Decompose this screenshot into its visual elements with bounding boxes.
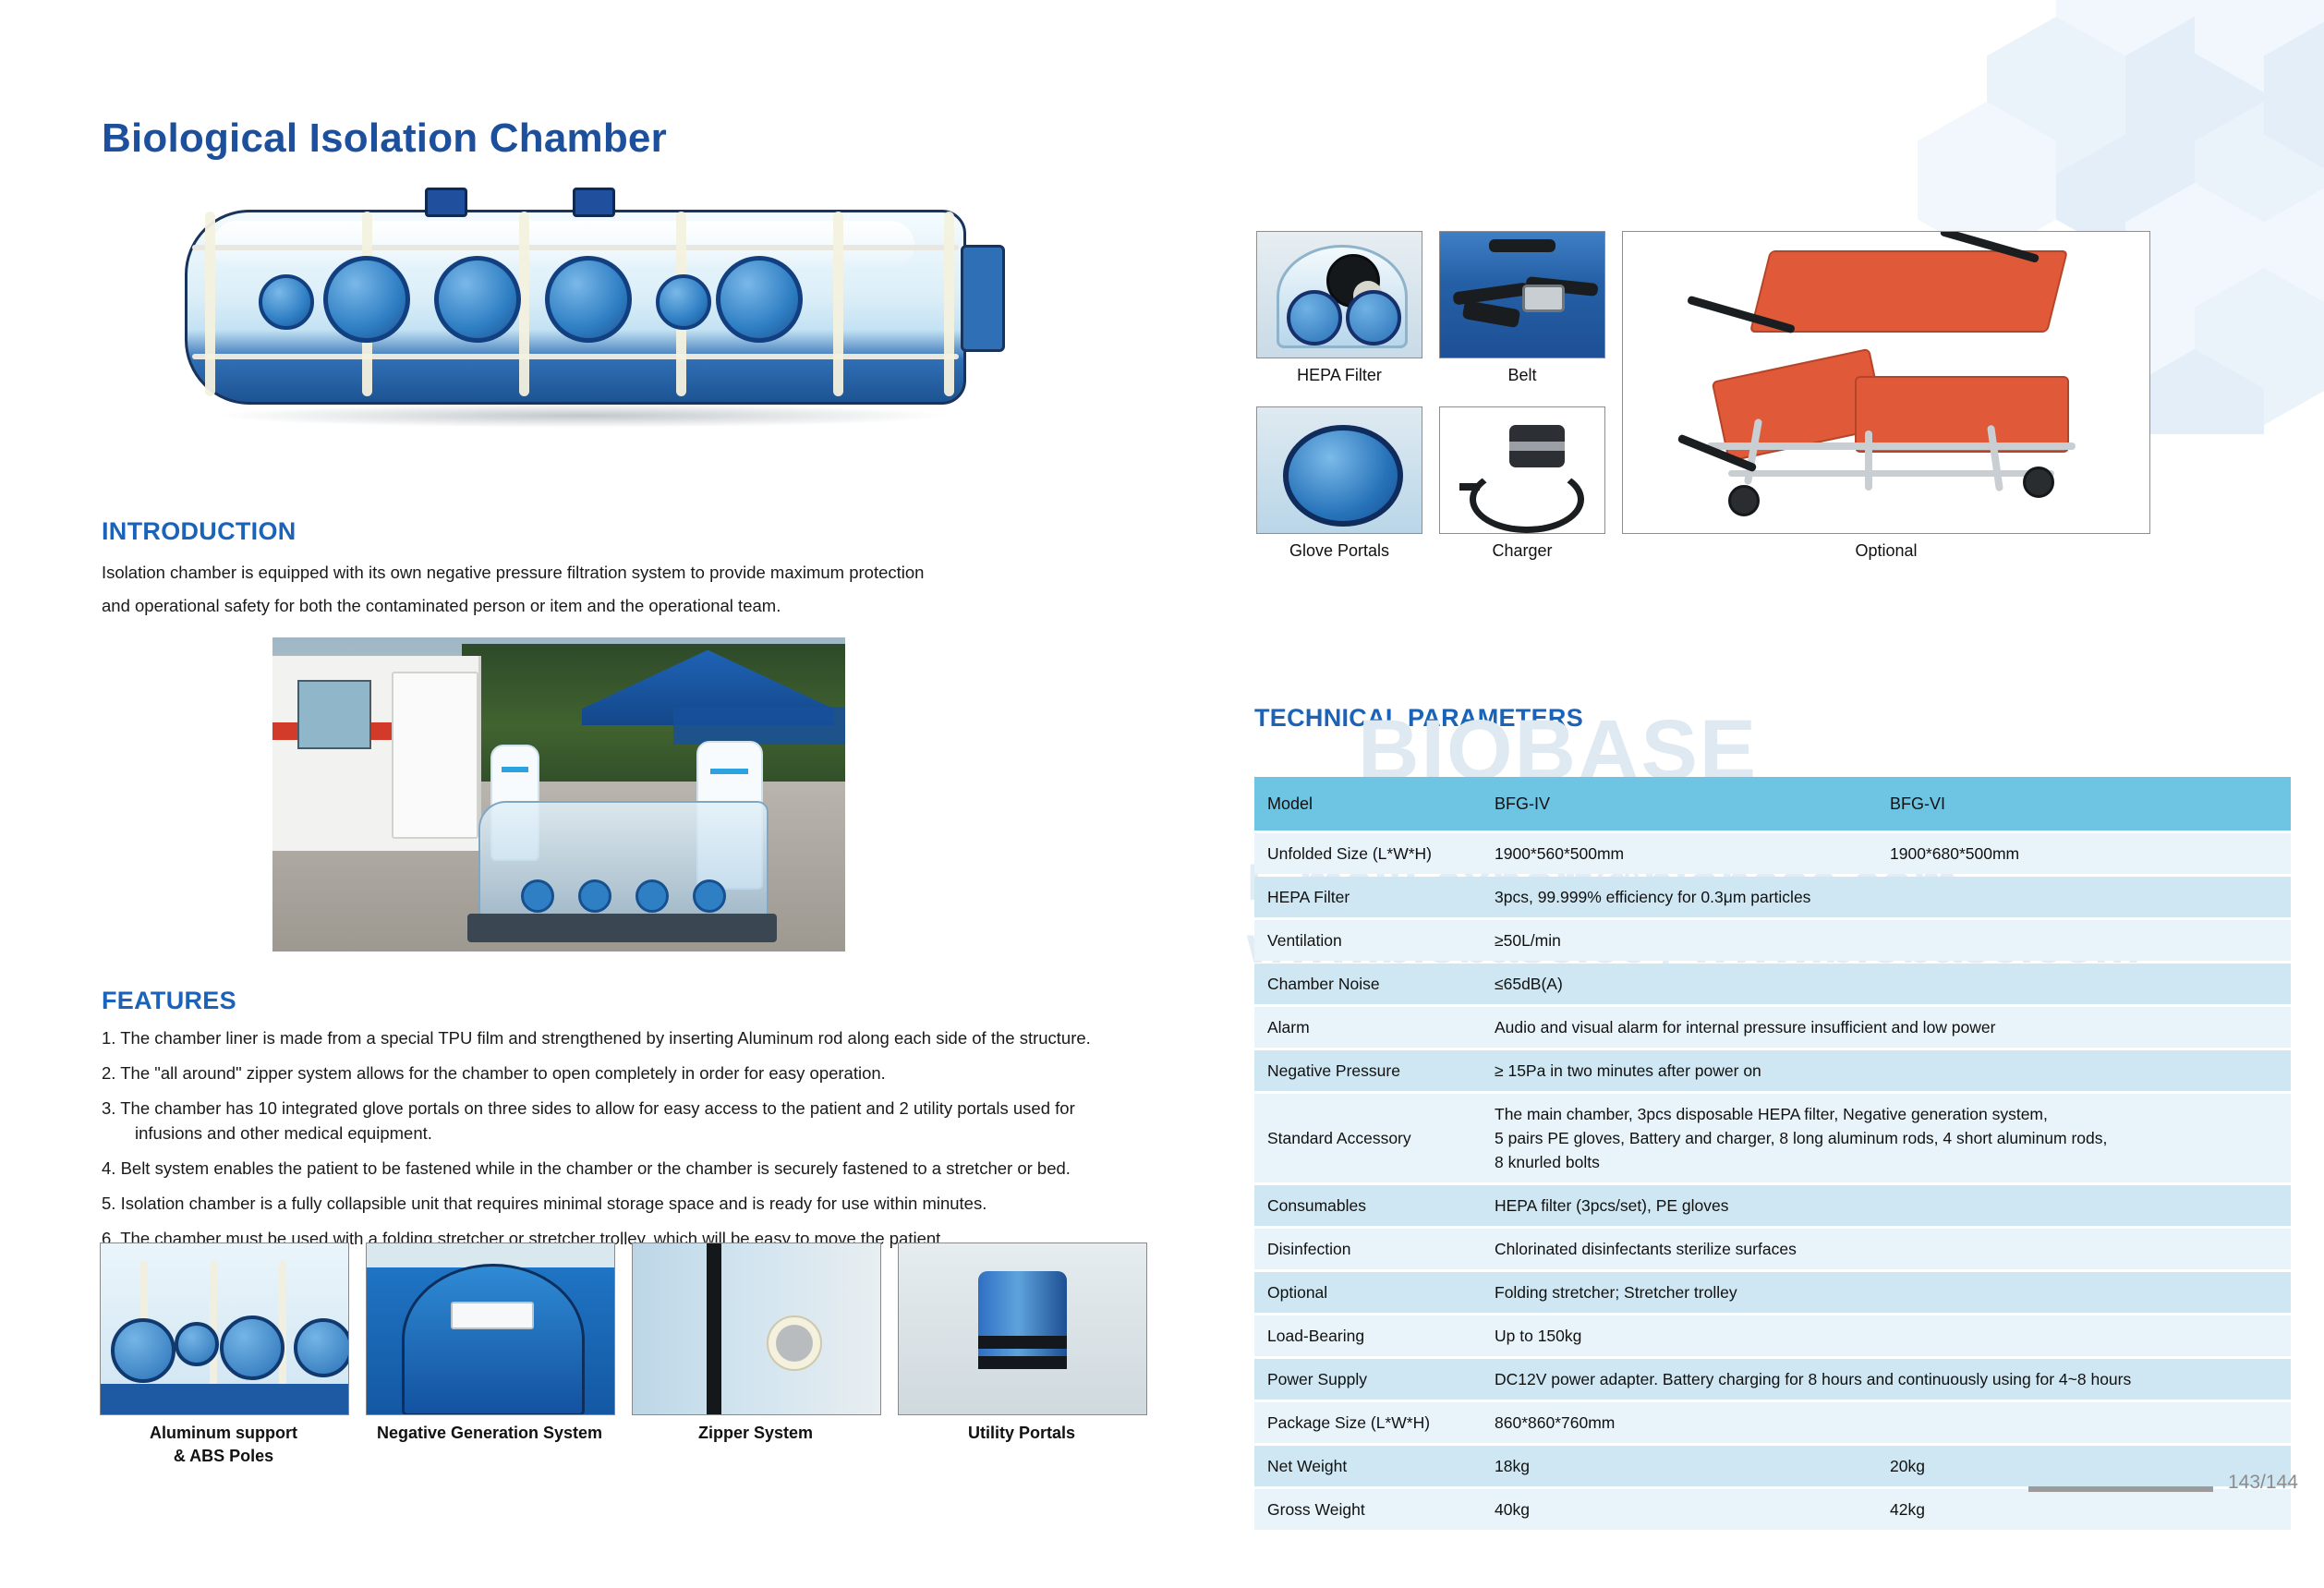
- introduction-body: Isolation chamber is equipped with its o…: [102, 556, 1044, 623]
- accessory-caption: Glove Portals: [1256, 539, 1422, 562]
- row-value: 860*860*760mm: [1482, 1402, 2291, 1443]
- introduction-line-2: and operational safety for both the cont…: [102, 589, 1044, 623]
- accessory-charger: Charger: [1439, 406, 1605, 562]
- accessory-caption: HEPA Filter: [1256, 364, 1422, 386]
- row-key: Unfolded Size (L*W*H): [1254, 833, 1482, 874]
- zipper-system-image: [632, 1243, 881, 1415]
- row-value: The main chamber, 3pcs disposable HEPA f…: [1482, 1094, 2291, 1182]
- introduction-heading: INTRODUCTION: [102, 517, 297, 546]
- introduction-line-1: Isolation chamber is equipped with its o…: [102, 556, 1044, 589]
- table-row: Power SupplyDC12V power adapter. Battery…: [1254, 1359, 2291, 1400]
- aluminum-support-image: [100, 1243, 349, 1415]
- table-row: Chamber Noise≤65dB(A): [1254, 964, 2291, 1004]
- row-value-model-1: 1900*560*500mm: [1482, 833, 1877, 874]
- optional-stretcher-image: [1622, 231, 2150, 534]
- row-key: Load-Bearing: [1254, 1315, 1482, 1356]
- feature-text: 3. The chamber has 10 integrated glove p…: [102, 1098, 1075, 1118]
- feature-text: 2. The "all around" zipper system allows…: [102, 1063, 886, 1083]
- header-cell-model-2: BFG-VI: [1877, 777, 2291, 830]
- features-heading: FEATURES: [102, 987, 236, 1015]
- feature-item: 5. Isolation chamber is a fully collapsi…: [102, 1191, 1155, 1216]
- row-key: HEPA Filter: [1254, 877, 1482, 917]
- caption-line-1: Aluminum support: [100, 1422, 347, 1445]
- table-row: HEPA Filter3pcs, 99.999% efficiency for …: [1254, 877, 2291, 917]
- hepa-filter-image: [1256, 231, 1422, 358]
- feature-thumbnail: Zipper System: [632, 1243, 879, 1468]
- feature-item: 1. The chamber liner is made from a spec…: [102, 1025, 1155, 1050]
- feature-text: 4. Belt system enables the patient to be…: [102, 1158, 1071, 1178]
- row-value-model-1: 40kg: [1482, 1489, 1877, 1530]
- row-key: Consumables: [1254, 1185, 1482, 1226]
- row-key: Alarm: [1254, 1007, 1482, 1048]
- feature-item: 3. The chamber has 10 integrated glove p…: [102, 1096, 1155, 1146]
- right-column: HEPA Filter Belt: [1229, 0, 2324, 1588]
- row-key: Ventilation: [1254, 920, 1482, 961]
- row-key: Standard Accessory: [1254, 1094, 1482, 1182]
- row-value: DC12V power adapter. Battery charging fo…: [1482, 1359, 2291, 1400]
- table-row: Package Size (L*W*H)860*860*760mm: [1254, 1402, 2291, 1443]
- technical-parameters-table: ModelBFG-IVBFG-VIUnfolded Size (L*W*H)19…: [1254, 774, 2291, 1533]
- table-row: Standard AccessoryThe main chamber, 3pcs…: [1254, 1094, 2291, 1182]
- caption-line-1: Negative Generation System: [366, 1422, 613, 1445]
- feature-thumbnail: Negative Generation System: [366, 1243, 613, 1468]
- thumbnail-caption: Aluminum support & ABS Poles: [100, 1422, 347, 1468]
- caption-line-1: Zipper System: [632, 1422, 879, 1445]
- row-key: Chamber Noise: [1254, 964, 1482, 1004]
- negative-generation-system-image: [366, 1243, 615, 1415]
- accessory-caption: Charger: [1439, 539, 1605, 562]
- feature-thumbnail: Aluminum support & ABS Poles: [100, 1243, 347, 1468]
- row-value: Folding stretcher; Stretcher trolley: [1482, 1272, 2291, 1313]
- glove-portals-image: [1256, 406, 1422, 534]
- feature-thumbnail-row: Aluminum support & ABS Poles Negative Ge…: [100, 1243, 1144, 1468]
- row-value: ≤65dB(A): [1482, 964, 2291, 1004]
- feature-thumbnail: Utility Portals: [898, 1243, 1145, 1468]
- utility-portals-image: [898, 1243, 1147, 1415]
- feature-subtext: infusions and other medical equipment.: [102, 1121, 1155, 1146]
- accessory-caption: Belt: [1439, 364, 1605, 386]
- left-column: Biological Isolation Chamber INTRO: [0, 0, 1229, 1588]
- accessory-caption: Optional: [1622, 539, 2150, 562]
- caption-line-2: & ABS Poles: [100, 1445, 347, 1468]
- product-hero-image: [148, 189, 1025, 457]
- thumbnail-caption: Negative Generation System: [366, 1422, 613, 1445]
- table-row: Negative Pressure≥ 15Pa in two minutes a…: [1254, 1050, 2291, 1091]
- belt-image: [1439, 231, 1605, 358]
- row-value-model-2: 42kg: [1877, 1489, 2291, 1530]
- table-row: Net Weight18kg20kg: [1254, 1446, 2291, 1486]
- row-value: Audio and visual alarm for internal pres…: [1482, 1007, 2291, 1048]
- row-key: Power Supply: [1254, 1359, 1482, 1400]
- feature-item: 2. The "all around" zipper system allows…: [102, 1061, 1155, 1085]
- accessory-belt: Belt: [1439, 231, 1605, 386]
- row-key: Negative Pressure: [1254, 1050, 1482, 1091]
- feature-text: 5. Isolation chamber is a fully collapsi…: [102, 1194, 986, 1213]
- caption-line-1: Utility Portals: [898, 1422, 1145, 1445]
- brochure-page: Biological Isolation Chamber INTRO: [0, 0, 2324, 1588]
- table-row: DisinfectionChlorinated disinfectants st…: [1254, 1229, 2291, 1269]
- table-row: Unfolded Size (L*W*H)1900*560*500mm1900*…: [1254, 833, 2291, 874]
- row-value: ≥50L/min: [1482, 920, 2291, 961]
- field-use-scene-image: [272, 637, 845, 952]
- feature-item: 4. Belt system enables the patient to be…: [102, 1156, 1155, 1181]
- row-key: Gross Weight: [1254, 1489, 1482, 1530]
- row-key: Net Weight: [1254, 1446, 1482, 1486]
- table-row: Gross Weight40kg42kg: [1254, 1489, 2291, 1530]
- technical-parameters-heading: TECHNICAL PARAMETERS: [1254, 704, 1583, 733]
- table-row: Load-BearingUp to 150kg: [1254, 1315, 2291, 1356]
- row-value-model-2: 1900*680*500mm: [1877, 833, 2291, 874]
- row-value: HEPA filter (3pcs/set), PE gloves: [1482, 1185, 2291, 1226]
- table-row: Ventilation≥50L/min: [1254, 920, 2291, 961]
- accessory-hepa-filter: HEPA Filter: [1256, 231, 1422, 386]
- accessory-glove-portals: Glove Portals: [1256, 406, 1422, 562]
- table-row: AlarmAudio and visual alarm for internal…: [1254, 1007, 2291, 1048]
- row-key: Disinfection: [1254, 1229, 1482, 1269]
- features-list: 1. The chamber liner is made from a spec…: [102, 1025, 1155, 1261]
- footer-rule: [2028, 1486, 2213, 1492]
- table-row: ConsumablesHEPA filter (3pcs/set), PE gl…: [1254, 1185, 2291, 1226]
- charger-image: [1439, 406, 1605, 534]
- row-value-model-1: 18kg: [1482, 1446, 1877, 1486]
- page-number: 143/144: [2228, 1472, 2298, 1494]
- row-key: Package Size (L*W*H): [1254, 1402, 1482, 1443]
- row-value: Up to 150kg: [1482, 1315, 2291, 1356]
- accessory-optional: Optional: [1622, 231, 2150, 562]
- row-key: Optional: [1254, 1272, 1482, 1313]
- row-value: 3pcs, 99.999% efficiency for 0.3μm parti…: [1482, 877, 2291, 917]
- thumbnail-caption: Zipper System: [632, 1422, 879, 1445]
- header-cell-key: Model: [1254, 777, 1482, 830]
- page-title: Biological Isolation Chamber: [102, 115, 667, 162]
- row-value: ≥ 15Pa in two minutes after power on: [1482, 1050, 2291, 1091]
- header-cell-model-1: BFG-IV: [1482, 777, 1877, 830]
- feature-text: 1. The chamber liner is made from a spec…: [102, 1028, 1091, 1048]
- row-value: Chlorinated disinfectants sterilize surf…: [1482, 1229, 2291, 1269]
- table-header-row: ModelBFG-IVBFG-VI: [1254, 777, 2291, 830]
- table-row: OptionalFolding stretcher; Stretcher tro…: [1254, 1272, 2291, 1313]
- thumbnail-caption: Utility Portals: [898, 1422, 1145, 1445]
